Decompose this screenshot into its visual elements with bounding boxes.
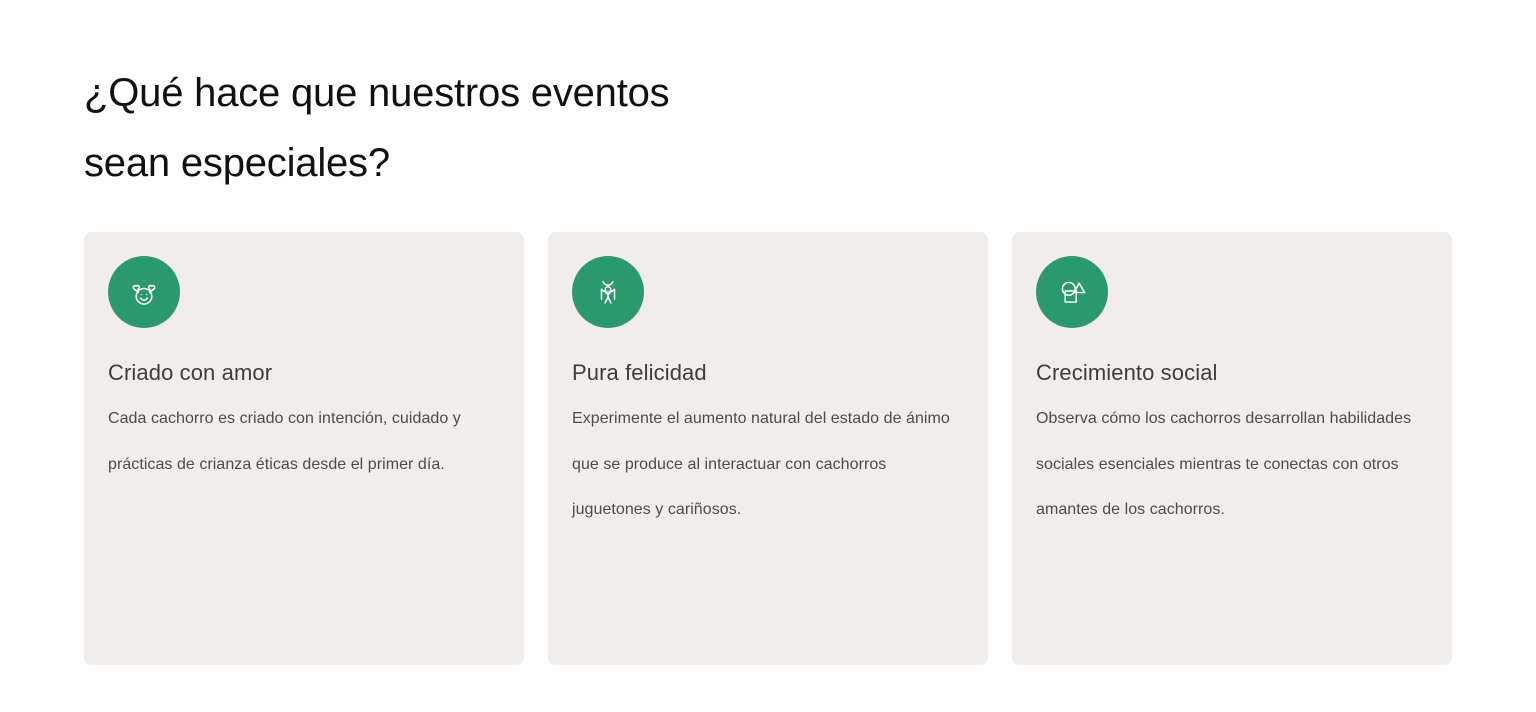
features-section: ¿Qué hace que nuestros eventos sean espe… bbox=[0, 0, 1536, 712]
person-arms-raised-icon bbox=[591, 275, 625, 309]
feature-card[interactable]: Crecimiento social Observa cómo los cach… bbox=[1012, 232, 1452, 665]
card-title: Crecimiento social bbox=[1036, 354, 1428, 392]
card-icon-badge bbox=[1036, 256, 1108, 328]
card-icon-badge bbox=[572, 256, 644, 328]
shapes-circle-square-triangle-icon bbox=[1055, 275, 1089, 309]
feature-card[interactable]: Pura felicidad Experimente el aumento na… bbox=[548, 232, 988, 665]
card-description: Cada cachorro es criado con intención, c… bbox=[108, 396, 500, 487]
card-icon-badge bbox=[108, 256, 180, 328]
heart-smiley-face-icon bbox=[127, 275, 161, 309]
card-description: Experimente el aumento natural del estad… bbox=[572, 396, 964, 533]
page-title: ¿Qué hace que nuestros eventos sean espe… bbox=[84, 58, 904, 198]
card-title: Criado con amor bbox=[108, 354, 500, 392]
card-title: Pura felicidad bbox=[572, 354, 964, 392]
feature-card-grid: Criado con amor Cada cachorro es criado … bbox=[84, 232, 1452, 665]
feature-card[interactable]: Criado con amor Cada cachorro es criado … bbox=[84, 232, 524, 665]
card-description: Observa cómo los cachorros desarrollan h… bbox=[1036, 396, 1428, 533]
